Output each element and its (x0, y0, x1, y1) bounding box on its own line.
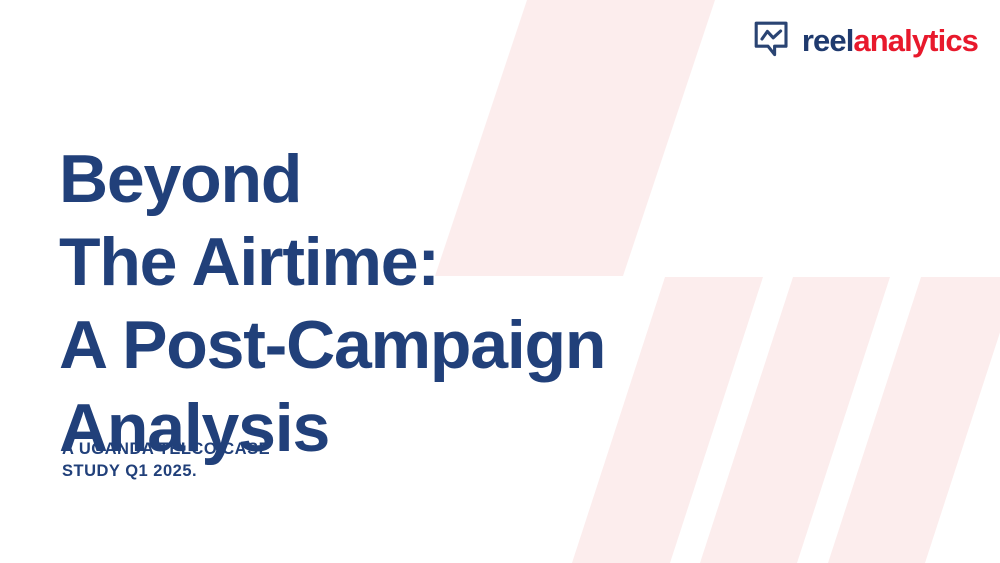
title-line-2: The Airtime: (59, 221, 679, 304)
stripe-bottom-3 (828, 277, 1000, 563)
brand-word-reel: reel (802, 23, 854, 58)
brand-word-analytics: analytics (853, 23, 978, 58)
subtitle-line-1: A UGANDA TELCO CASE (62, 438, 270, 460)
brand-logo[interactable]: reelanalytics (753, 20, 978, 60)
speech-bubble-line-chart-icon (753, 20, 793, 60)
title-slide: reelanalytics Beyond The Airtime: A Post… (0, 0, 1000, 563)
brand-wordmark: reelanalytics (802, 25, 978, 56)
subtitle-line-2: STUDY Q1 2025. (62, 460, 270, 482)
title-line-1: Beyond (59, 138, 679, 221)
page-title: Beyond The Airtime: A Post-Campaign Anal… (59, 138, 679, 470)
title-line-3: A Post-Campaign (59, 304, 679, 387)
page-subtitle: A UGANDA TELCO CASE STUDY Q1 2025. (62, 438, 270, 482)
stripe-bottom-2 (700, 277, 890, 563)
